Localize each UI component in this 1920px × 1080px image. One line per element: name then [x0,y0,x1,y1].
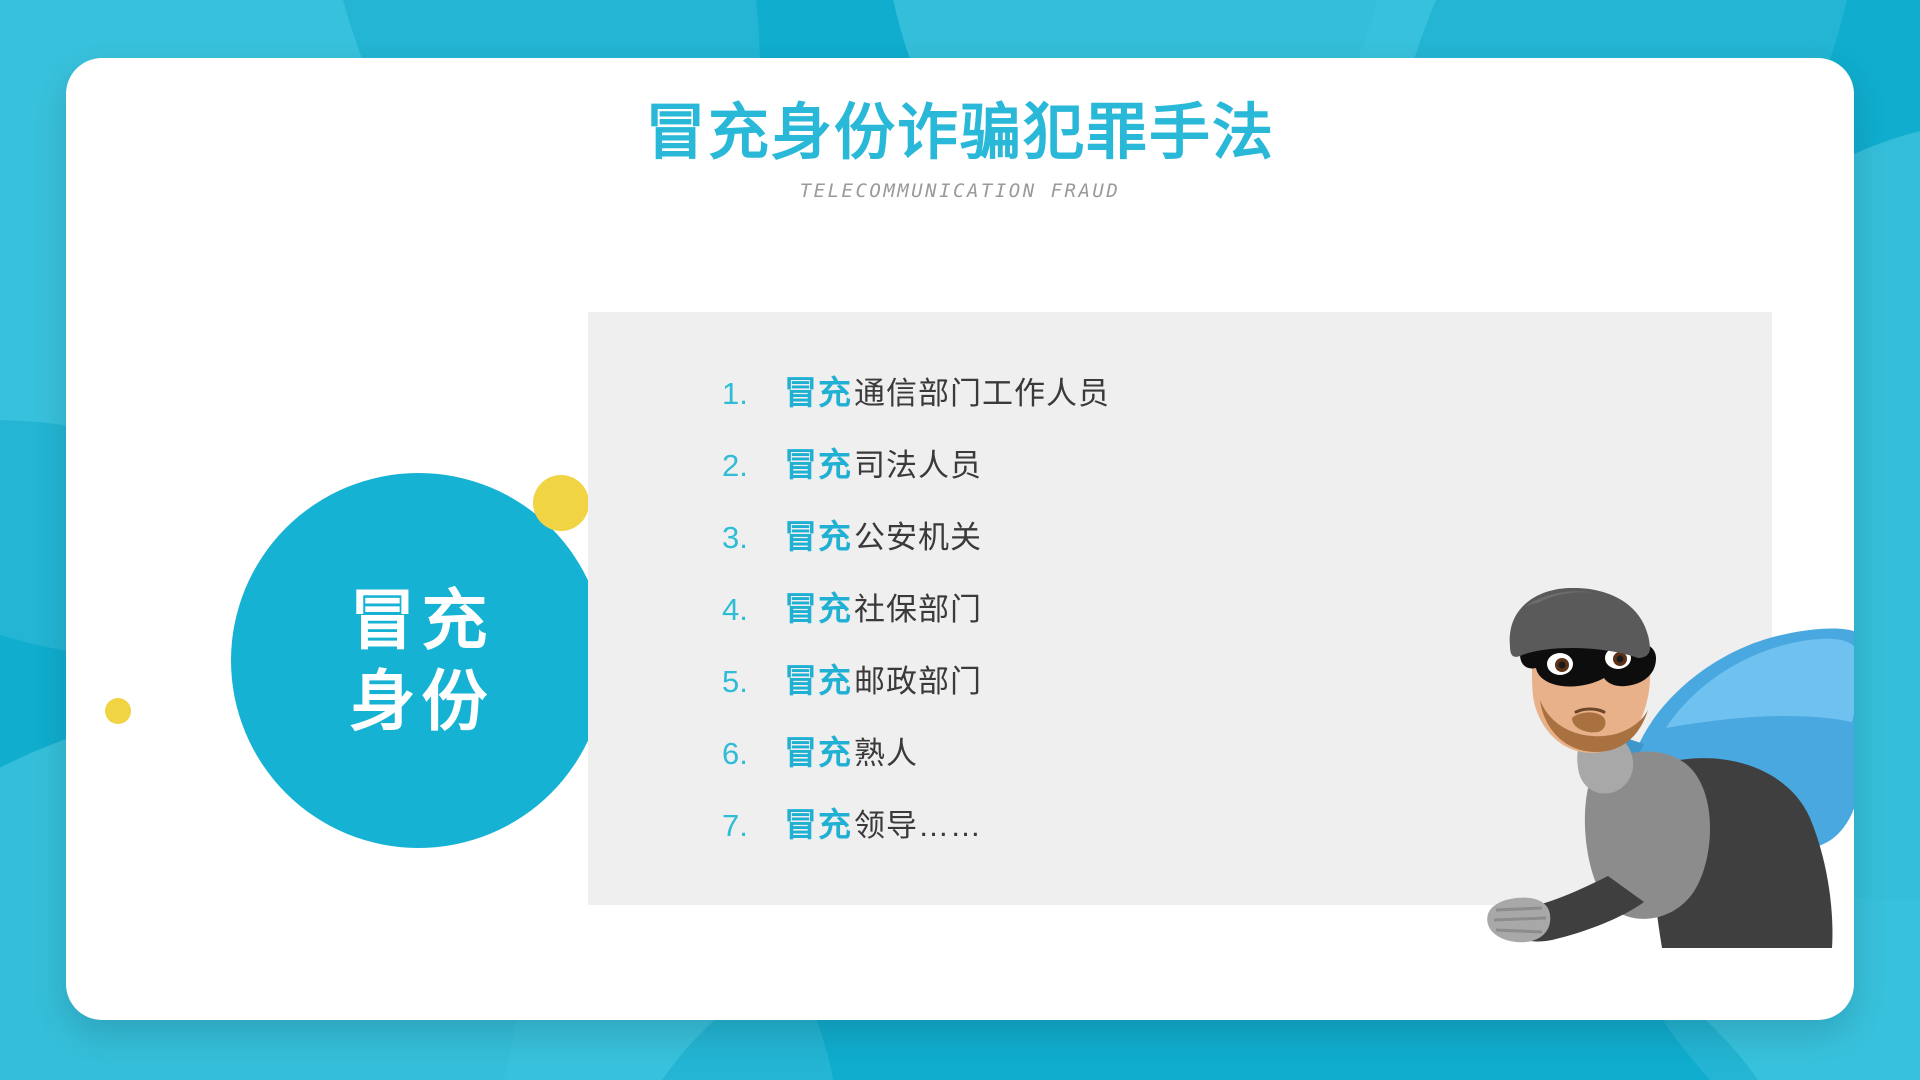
list-item: 7. 冒充 领导…… [722,798,1110,870]
fraud-methods-list: 1. 冒充 通信部门工作人员 2. 冒充 司法人员 3. 冒充 公安机关 4. … [722,366,1110,870]
list-item-text: 熟人 [854,728,918,773]
list-item-highlight: 冒充 [784,798,852,846]
list-item-text: 公安机关 [854,512,982,557]
list-item-text: 通信部门工作人员 [854,368,1110,413]
list-item-highlight: 冒充 [784,438,852,486]
list-item-highlight: 冒充 [784,366,852,414]
slide-header: 冒充身份诈骗犯罪手法 TELECOMMUNICATION FRAUD [66,58,1854,202]
badge-line-2: 身份 [344,661,494,742]
list-item-number: 7. [722,808,784,844]
list-item-highlight: 冒充 [784,510,852,558]
slide-root: 冒充身份诈骗犯罪手法 TELECOMMUNICATION FRAUD 冒充 身份… [0,0,1920,1080]
list-item: 5. 冒充 邮政部门 [722,654,1110,726]
list-item-number: 1. [722,376,784,412]
list-item-number: 6. [722,736,784,772]
list-item: 3. 冒充 公安机关 [722,510,1110,582]
head [1510,588,1656,753]
accent-dot-small [105,698,131,724]
beanie-icon [1510,588,1650,658]
list-item-text: 领导…… [854,800,982,845]
badge-group: 冒充 身份 [165,415,585,835]
topic-badge: 冒充 身份 [231,473,606,848]
list-item: 6. 冒充 熟人 [722,726,1110,798]
list-item-number: 5. [722,664,784,700]
list-item: 1. 冒充 通信部门工作人员 [722,366,1110,438]
list-item-highlight: 冒充 [784,726,852,774]
list-item-number: 3. [722,520,784,556]
page-subtitle: TELECOMMUNICATION FRAUD [66,180,1854,202]
list-item: 4. 冒充 社保部门 [722,582,1110,654]
list-item-text: 邮政部门 [854,656,982,701]
list-item-number: 4. [722,592,784,628]
list-item: 2. 冒充 司法人员 [722,438,1110,510]
thief-illustration [1466,588,1854,948]
slide-card: 冒充身份诈骗犯罪手法 TELECOMMUNICATION FRAUD 冒充 身份… [66,58,1854,1020]
list-item-highlight: 冒充 [784,582,852,630]
list-item-text: 司法人员 [854,440,982,485]
list-item-highlight: 冒充 [784,654,852,702]
list-item-text: 社保部门 [854,584,982,629]
badge-line-1: 冒充 [344,580,494,661]
accent-dot-large [533,475,589,531]
page-title: 冒充身份诈骗犯罪手法 [66,98,1854,166]
list-item-number: 2. [722,448,784,484]
